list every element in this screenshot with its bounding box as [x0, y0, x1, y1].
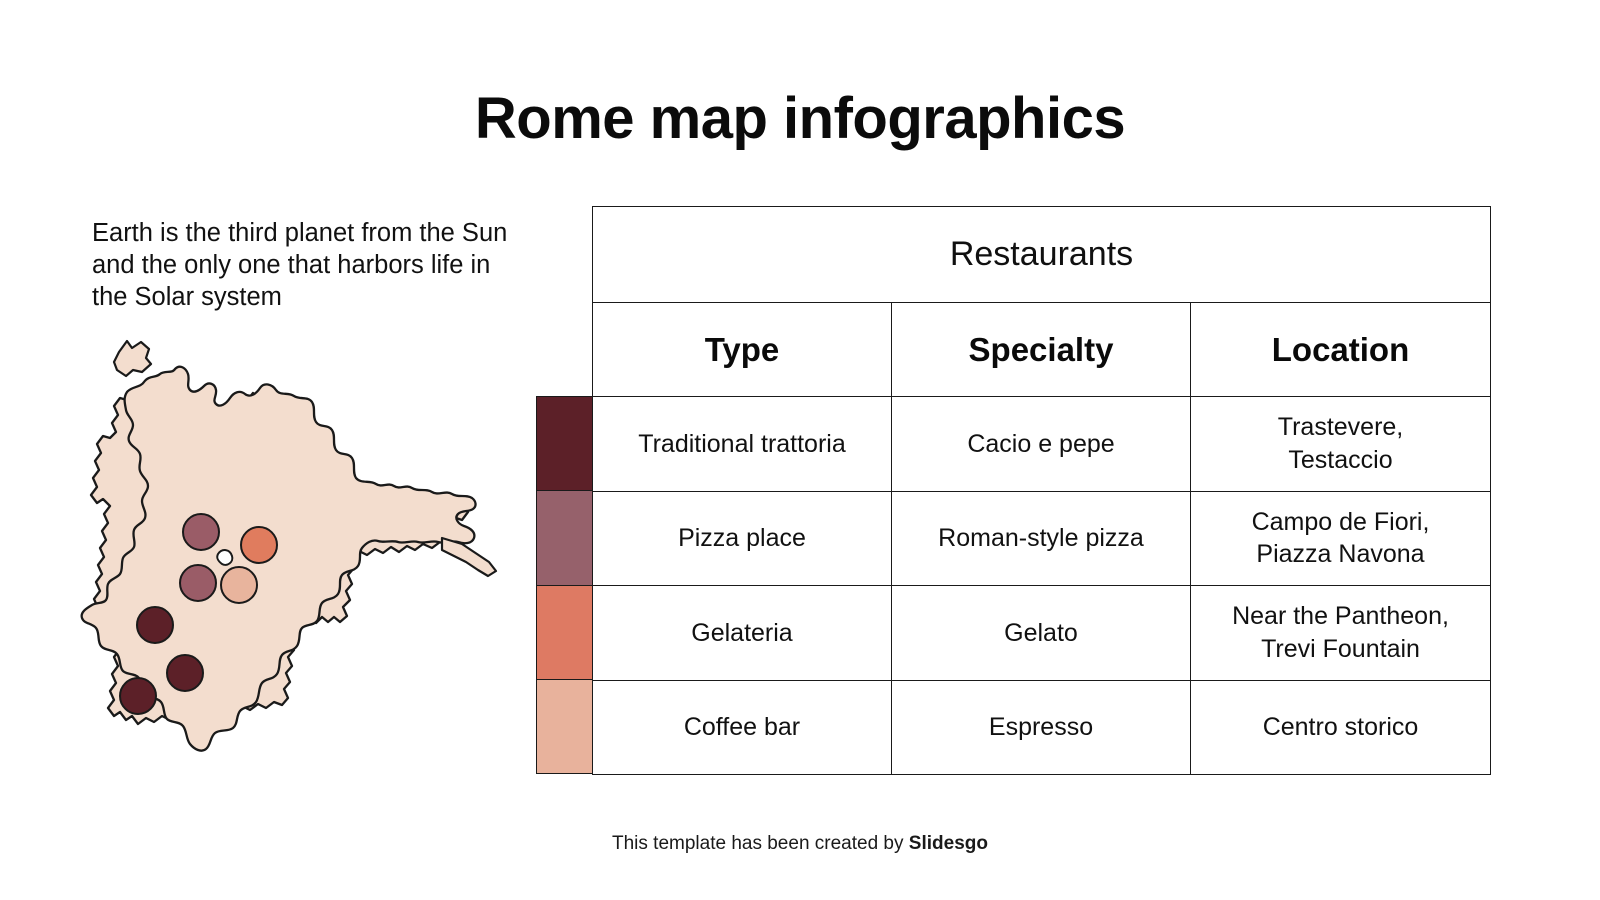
cell-type-3: Gelateria	[593, 586, 892, 681]
column-header-location: Location	[1191, 303, 1491, 397]
swatch-column	[536, 396, 593, 774]
table-row: Pizza place Roman-style pizza Campo de F…	[593, 491, 1491, 586]
table-row: Coffee bar Espresso Centro storico	[593, 680, 1491, 775]
page-title: Rome map infographics	[0, 85, 1600, 152]
footer-brand: Slidesgo	[909, 833, 988, 854]
restaurants-table: Restaurants Type Specialty Location Trad…	[592, 206, 1491, 775]
cell-location-2: Campo de Fiori,Piazza Navona	[1191, 491, 1491, 586]
column-header-type: Type	[593, 303, 892, 397]
restaurants-table-area: Restaurants Type Specialty Location Trad…	[536, 206, 1490, 774]
marker-5-dot	[137, 607, 173, 643]
table-row: Traditional trattoria Cacio e pepe Trast…	[593, 397, 1491, 492]
swatch-row-1	[536, 396, 593, 490]
map-island-north	[114, 341, 151, 376]
table-group-header-row: Restaurants	[593, 207, 1491, 303]
swatch-row-4	[536, 679, 593, 774]
table-row: Gelateria Gelato Near the Pantheon,Trevi…	[593, 586, 1491, 681]
cell-location-1: Trastevere,Testaccio	[1191, 397, 1491, 492]
marker-6-dot	[167, 655, 203, 691]
table-column-header-row: Type Specialty Location	[593, 303, 1491, 397]
cell-location-4: Centro storico	[1191, 680, 1491, 775]
footer-credit: This template has been created by Slides…	[0, 833, 1600, 855]
cell-specialty-1: Cacio e pepe	[892, 397, 1191, 492]
swatch-row-3	[536, 585, 593, 679]
footer-text: This template has been created by	[612, 833, 909, 854]
map-vatican-hole	[217, 550, 232, 565]
cell-specialty-3: Gelato	[892, 586, 1191, 681]
group-header-restaurants: Restaurants	[593, 207, 1491, 303]
cell-type-2: Pizza place	[593, 491, 892, 586]
swatch-row-2	[536, 490, 593, 584]
rome-map-svg	[70, 330, 500, 780]
cell-location-3: Near the Pantheon,Trevi Fountain	[1191, 586, 1491, 681]
marker-7-dot	[120, 678, 156, 714]
marker-3-dot	[180, 565, 216, 601]
marker-1-dot	[183, 514, 219, 550]
marker-4-dot	[221, 567, 257, 603]
slide-root: Rome map infographics Earth is the third…	[0, 0, 1600, 900]
marker-2-dot	[241, 527, 277, 563]
left-column: Earth is the third planet from the Sun a…	[92, 218, 512, 314]
cell-specialty-4: Espresso	[892, 680, 1191, 775]
description-text: Earth is the third planet from the Sun a…	[92, 218, 512, 314]
cell-type-1: Traditional trattoria	[593, 397, 892, 492]
cell-specialty-2: Roman-style pizza	[892, 491, 1191, 586]
rome-map-graphic	[70, 330, 500, 780]
cell-type-4: Coffee bar	[593, 680, 892, 775]
column-header-specialty: Specialty	[892, 303, 1191, 397]
